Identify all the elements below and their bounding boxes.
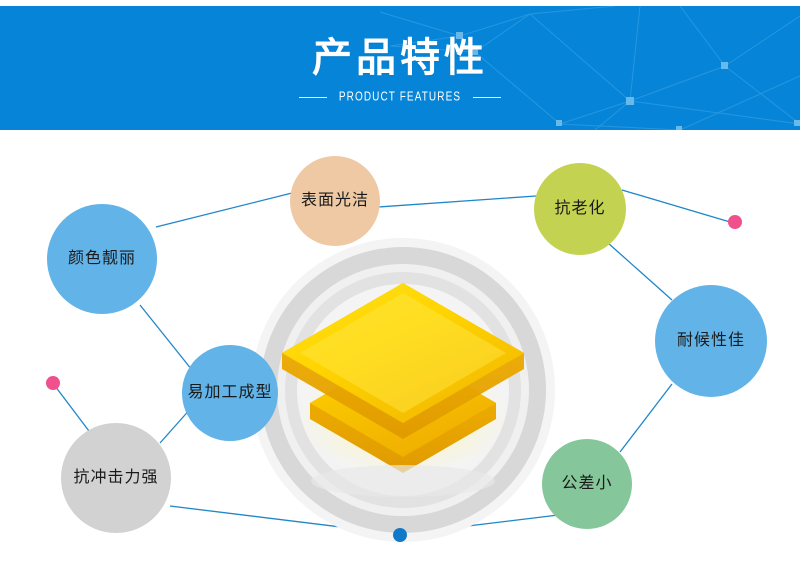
connector-aging-weather [608, 243, 672, 300]
feature-bubble-forming[interactable]: 易加工成型 [182, 345, 278, 441]
feature-label-aging: 抗老化 [550, 200, 609, 218]
feature-bubble-weather[interactable]: 耐候性佳 [655, 285, 767, 397]
feature-bubble-aging[interactable]: 抗老化 [534, 163, 626, 255]
feature-bubble-color[interactable]: 颜色靓丽 [47, 204, 157, 314]
page-header-banner: 产品特性 PRODUCT FEATURES [0, 6, 800, 130]
feature-bubble-impact[interactable]: 抗冲击力强 [61, 423, 171, 533]
feature-label-color: 颜色靓丽 [64, 250, 140, 268]
connector-weather-tolerance [620, 384, 672, 452]
connector-surface-aging [378, 196, 536, 207]
feature-bubble-surface[interactable]: 表面光洁 [290, 156, 380, 246]
center-rings-and-product [248, 235, 558, 545]
feature-label-weather: 耐候性佳 [673, 332, 749, 350]
feature-label-tolerance: 公差小 [557, 475, 616, 493]
feature-diagram: 颜色靓丽 表面光洁 抗老化 耐候性佳 公差小 抗冲击力强 易加工成型 [0, 130, 800, 563]
connector-aging-pinkright [622, 190, 730, 222]
marker-pink-right-dot [728, 215, 742, 229]
dash-left-decoration [299, 97, 327, 98]
marker-blue-bottom-dot [393, 528, 407, 542]
page-title: 产品特性 [312, 38, 488, 78]
subtitle-row: PRODUCT FEATURES [299, 92, 501, 103]
feature-bubble-tolerance[interactable]: 公差小 [542, 439, 632, 529]
page-subtitle: PRODUCT FEATURES [339, 90, 461, 104]
feature-label-forming: 易加工成型 [183, 384, 276, 402]
marker-pink-left-dot [46, 376, 60, 390]
dash-right-decoration [473, 97, 501, 98]
connector-pinkleft-impact [55, 386, 92, 435]
feature-label-surface: 表面光洁 [297, 192, 373, 210]
page-root: 产品特性 PRODUCT FEATURES [0, 0, 800, 563]
connector-color-surface [156, 193, 292, 227]
feature-label-impact: 抗冲击力强 [69, 469, 162, 487]
